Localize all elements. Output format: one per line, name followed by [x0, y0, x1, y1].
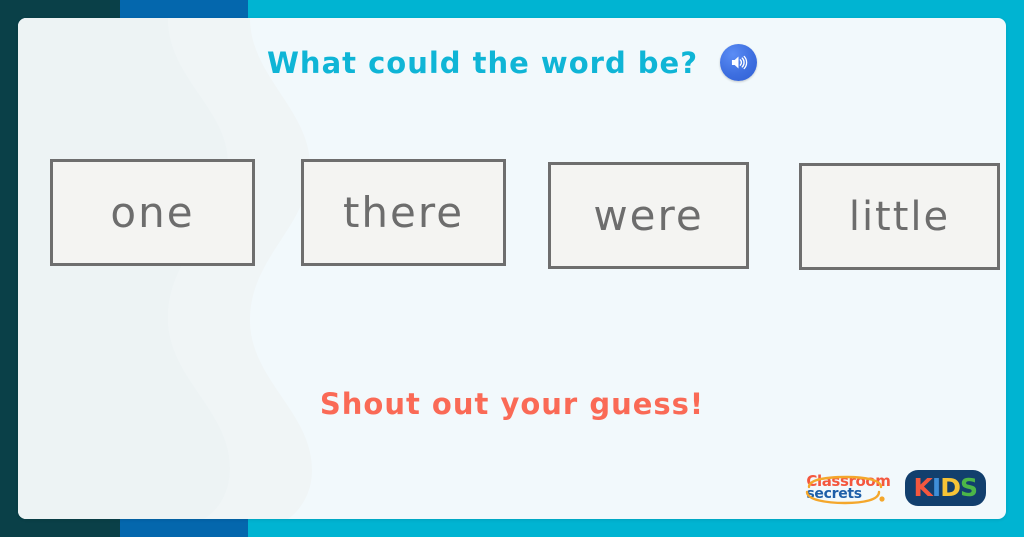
- word-card-label: little: [849, 197, 950, 237]
- question-row: What could the word be?: [18, 44, 1006, 81]
- word-card-label: one: [110, 192, 194, 234]
- kids-letter-s: S: [960, 475, 977, 500]
- instruction-prompt: Shout out your guess!: [18, 387, 1006, 421]
- kids-letter-d: D: [940, 475, 960, 500]
- speaker-volume-icon: [728, 52, 749, 73]
- kids-letter-i: I: [932, 475, 940, 500]
- word-card-option-4[interactable]: little: [799, 163, 1000, 270]
- kids-letter-k: K: [914, 475, 932, 500]
- word-card-option-2[interactable]: there: [301, 159, 506, 266]
- branding-logos: Classroom secrets K I D S: [806, 470, 986, 506]
- kids-badge-logo: K I D S: [905, 470, 986, 506]
- classroom-secrets-logo: Classroom secrets: [806, 474, 898, 501]
- word-options-row: one there were little: [32, 141, 992, 281]
- slide-panel: What could the word be? one there were l…: [18, 18, 1006, 519]
- audio-play-button[interactable]: [720, 44, 757, 81]
- page-title: What could the word be?: [267, 46, 698, 80]
- word-card-label: there: [343, 192, 464, 234]
- word-card-option-1[interactable]: one: [50, 159, 255, 266]
- logo-text-secrets: secrets: [806, 488, 861, 501]
- word-card-label: were: [593, 195, 703, 237]
- word-card-option-3[interactable]: were: [548, 162, 749, 269]
